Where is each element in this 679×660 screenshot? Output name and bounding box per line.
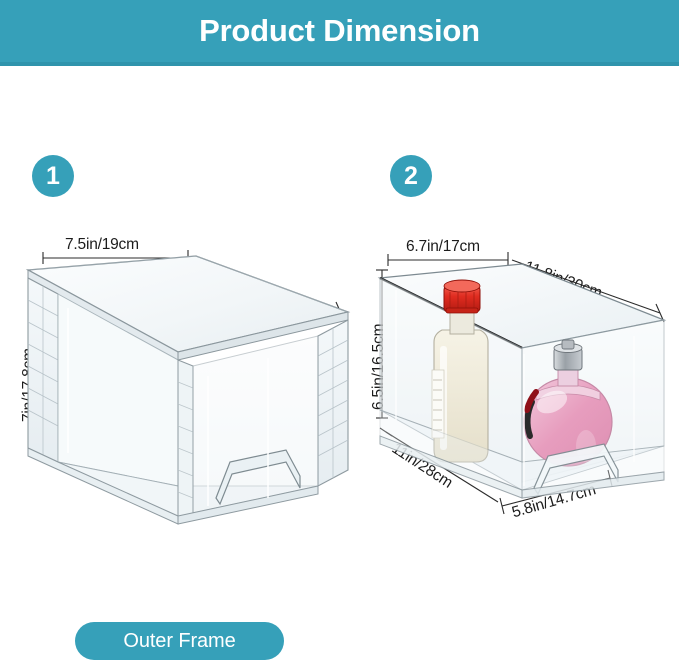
page-title: Product Dimension xyxy=(0,0,679,62)
caption-outer-frame: Outer Frame xyxy=(75,622,284,660)
step-badge-1: 1 xyxy=(32,155,74,197)
inner-drawer-illustration xyxy=(372,250,672,520)
header-banner: Product Dimension xyxy=(0,0,679,66)
outer-frame-illustration xyxy=(18,248,358,538)
product-panel-outer-frame: 1 7.5in/19cm 12in/30.5cm 7in/17.8cm xyxy=(0,70,360,599)
step-badge-2: 2 xyxy=(390,155,432,197)
product-panel-inner-drawer: 2 6.7in/17cm 11.8in/30cm 6.5in/16.5cm 11… xyxy=(360,70,679,599)
